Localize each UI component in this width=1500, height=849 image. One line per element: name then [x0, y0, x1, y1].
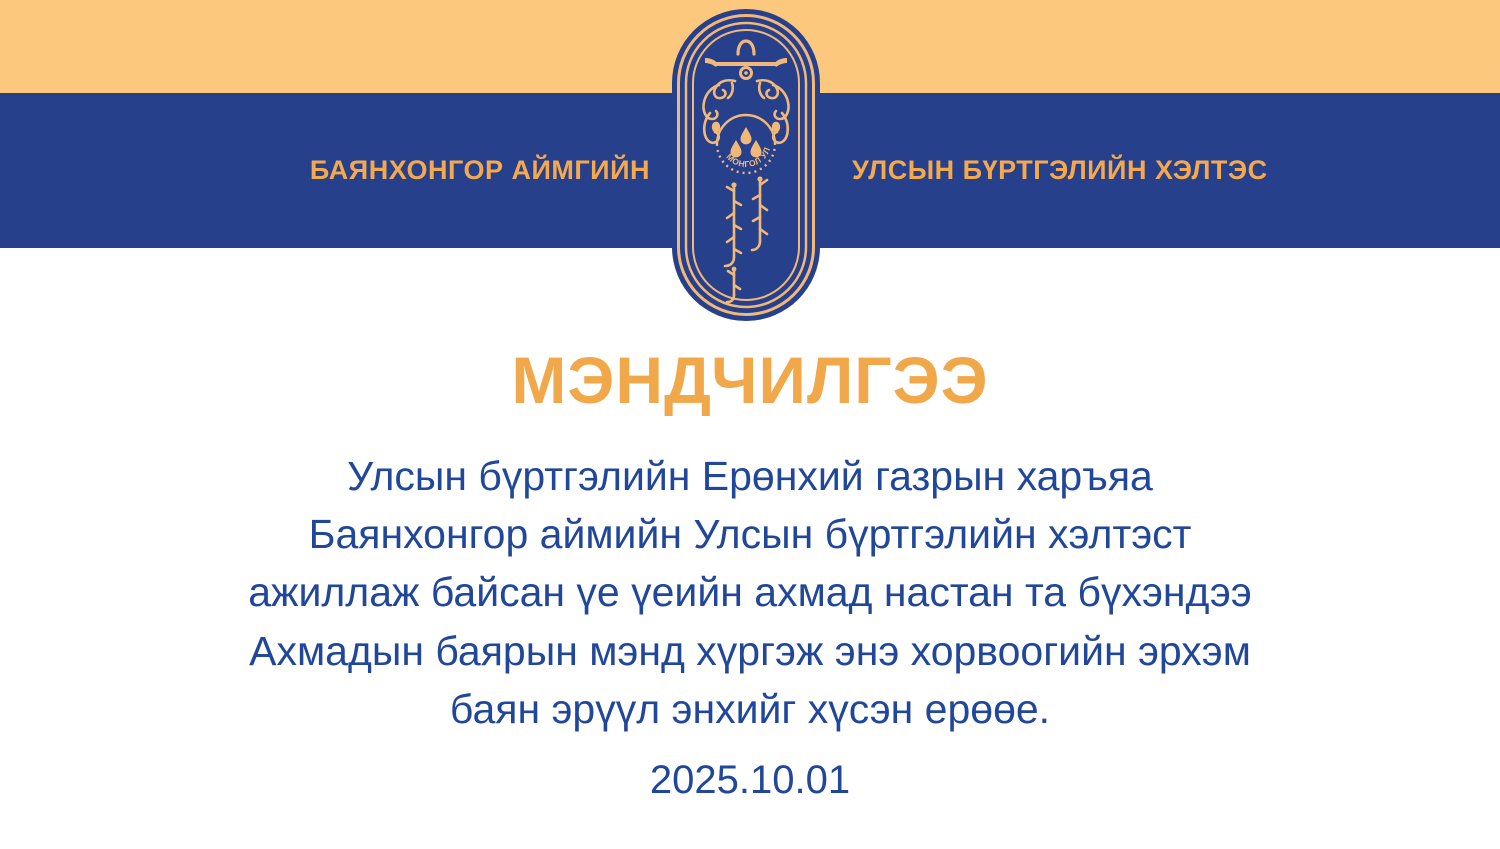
page-title: МЭНДЧИЛГЭЭ	[511, 347, 988, 413]
message-line: Баянхонгор аймийн Улсын бүртгэлийн хэлтэ…	[70, 505, 1430, 563]
message-line: Ахмадын баярын мэнд хүргэж энэ хорвоогий…	[70, 622, 1430, 680]
organization-department-label: УЛСЫН БҮРТГЭЛИЙН ХЭЛТЭС	[830, 157, 1490, 184]
state-emblem-icon: МОНГОЛ УЛС	[672, 9, 820, 321]
greeting-date: 2025.10.01	[650, 760, 850, 800]
greeting-message: Улсын бүртгэлийн Ерөнхий газрын харъяа Б…	[70, 447, 1430, 738]
organization-region-label: БАЯНХОНГОР АЙМГИЙН	[10, 157, 670, 184]
poster-body: МЭНДЧИЛГЭЭ Улсын бүртгэлийн Ерөнхий газр…	[0, 330, 1500, 849]
greeting-poster: БАЯНХОНГОР АЙМГИЙН УЛСЫН БҮРТГЭЛИЙН ХЭЛТ…	[0, 0, 1500, 849]
message-line: Улсын бүртгэлийн Ерөнхий газрын харъяа	[70, 447, 1430, 505]
message-line: ажиллаж байсан үе үеийн ахмад настан та …	[70, 563, 1430, 621]
message-line: баян эрүүл энхийг хүсэн ерөөе.	[70, 680, 1430, 738]
